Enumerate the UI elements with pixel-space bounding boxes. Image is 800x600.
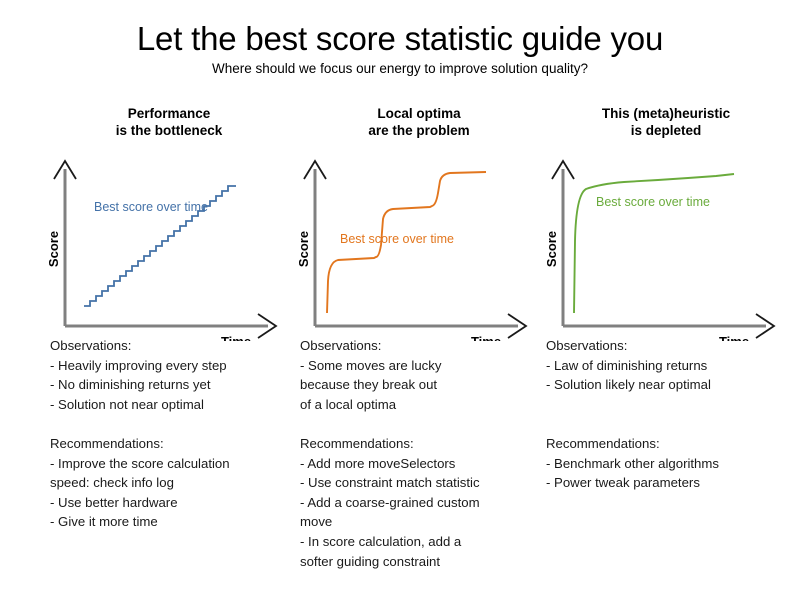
spacer — [546, 414, 796, 434]
chart-svg: Best score over time Score Time — [538, 141, 796, 341]
panel-title-line2: are the problem — [368, 123, 469, 138]
recommendation-item: - Give it more time — [50, 512, 300, 532]
notes-local-optima: Observations: - Some moves are lucky bec… — [300, 336, 540, 571]
recommendation-item: - Use constraint match statistic — [300, 473, 540, 493]
y-axis-label: Score — [544, 231, 559, 267]
slide-root: Let the best score statistic guide you W… — [0, 0, 800, 600]
notes-metaheuristic-depleted: Observations: - Law of diminishing retur… — [546, 336, 796, 493]
recommendation-item: - Improve the score calculation — [50, 454, 300, 474]
legend-label: Best score over time — [340, 232, 454, 246]
y-axis-label: Score — [296, 231, 311, 267]
page-title: Let the best score statistic guide you — [0, 20, 800, 58]
panel-metaheuristic-depleted: This (meta)heuristic is depleted Best sc… — [538, 105, 796, 341]
recommendation-item: - Add a coarse-grained custom — [300, 493, 540, 513]
recommendations-heading: Recommendations: — [300, 434, 540, 454]
panel-title-line2: is the bottleneck — [116, 123, 223, 138]
observation-item: - Law of diminishing returns — [546, 356, 796, 376]
recommendation-item: - Add more moveSelectors — [300, 454, 540, 474]
recommendation-item: - In score calculation, add a — [300, 532, 540, 552]
recommendation-item-cont: softer guiding constraint — [300, 552, 540, 572]
legend-label: Best score over time — [94, 200, 208, 214]
observation-item-cont: of a local optima — [300, 395, 540, 415]
observation-item: - Heavily improving every step — [50, 356, 300, 376]
observation-item-cont: because they break out — [300, 375, 540, 395]
page-subtitle: Where should we focus our energy to impr… — [0, 61, 800, 76]
observation-item: - Solution not near optimal — [50, 395, 300, 415]
spacer — [546, 395, 796, 415]
recommendation-item: - Power tweak parameters — [546, 473, 796, 493]
recommendation-item-cont: move — [300, 512, 540, 532]
panel-title-line1: Performance — [128, 106, 211, 121]
panel-title-line1: Local optima — [377, 106, 460, 121]
chart-metaheuristic-depleted: Best score over time Score Time — [538, 141, 796, 341]
panel-local-optima: Local optima are the problem Best score … — [290, 105, 548, 341]
panel-title-line2: is depleted — [631, 123, 702, 138]
chart-performance-bottleneck: Best score over time Score Time — [40, 141, 298, 341]
observation-item: - Solution likely near optimal — [546, 375, 796, 395]
panel-performance-bottleneck: Performance is the bottleneck Best score… — [40, 105, 298, 341]
panel-title-line1: This (meta)heuristic — [602, 106, 730, 121]
chart-svg: Best score over time Score Time — [40, 141, 298, 341]
observations-heading: Observations: — [50, 336, 300, 356]
recommendations-heading: Recommendations: — [50, 434, 300, 454]
legend-label: Best score over time — [596, 195, 710, 209]
recommendations-heading: Recommendations: — [546, 434, 796, 454]
y-axis-label: Score — [46, 231, 61, 267]
panel-title: Performance is the bottleneck — [54, 105, 284, 139]
observation-item: - No diminishing returns yet — [50, 375, 300, 395]
observations-heading: Observations: — [300, 336, 540, 356]
chart-local-optima: Best score over time Score Time — [290, 141, 548, 341]
spacer — [50, 414, 300, 434]
spacer — [300, 414, 540, 434]
recommendation-item: - Use better hardware — [50, 493, 300, 513]
chart-svg: Best score over time Score Time — [290, 141, 548, 341]
observation-item: - Some moves are lucky — [300, 356, 540, 376]
observations-heading: Observations: — [546, 336, 796, 356]
panel-title: This (meta)heuristic is depleted — [548, 105, 784, 139]
recommendation-item-cont: speed: check info log — [50, 473, 300, 493]
recommendation-item: - Benchmark other algorithms — [546, 454, 796, 474]
panel-title: Local optima are the problem — [304, 105, 534, 139]
notes-performance-bottleneck: Observations: - Heavily improving every … — [50, 336, 300, 532]
